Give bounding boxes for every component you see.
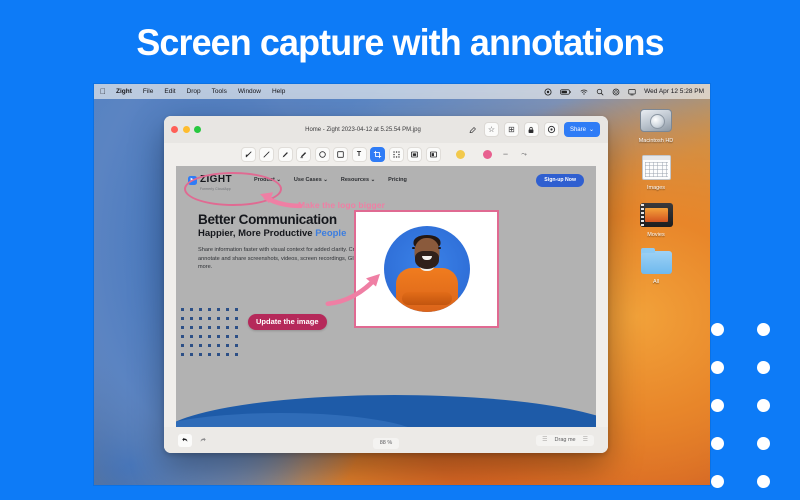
dot — [757, 437, 770, 450]
desktop-icon-movies[interactable]: Movies — [624, 200, 688, 238]
menu-bar:  Zight File Edit Drop Tools Window Help… — [94, 84, 710, 99]
menu-item-window[interactable]: Window — [238, 88, 261, 95]
folder-icon — [637, 247, 675, 277]
hero-copy: Better Communication Happier, More Produ… — [198, 212, 378, 272]
desktop-icon-label: All — [624, 279, 688, 285]
editor-canvas[interactable]: ▶ ZIGHT Formerly CloudApp Product ⌄ Use … — [176, 166, 596, 427]
decorative-square-dots — [181, 308, 244, 362]
menubar-clock[interactable]: Wed Apr 12 5:28 PM — [644, 88, 704, 95]
dot — [711, 361, 724, 374]
window-titlebar: Home - Zight 2023-04-12 at 5.25.54 PM.jp… — [164, 116, 608, 143]
search-icon[interactable] — [596, 88, 604, 96]
more-options-icon[interactable]: ⤳ — [517, 147, 532, 162]
control-center-icon[interactable] — [544, 88, 552, 96]
arrow-tool[interactable] — [241, 147, 256, 162]
square-tool[interactable] — [333, 147, 348, 162]
battery-icon[interactable] — [560, 88, 572, 96]
menu-item-tools[interactable]: Tools — [212, 88, 227, 95]
desktop-icon-all[interactable]: All — [624, 247, 688, 285]
logo-ellipse-annotation — [184, 172, 282, 206]
smiling-man-orange-sweater-photo — [384, 226, 470, 312]
hero-subheading-plain: Happier, More Productive — [198, 228, 315, 239]
menu-item-edit[interactable]: Edit — [164, 88, 175, 95]
dot — [757, 475, 770, 488]
apple-logo-icon[interactable]:  — [100, 88, 106, 96]
dot — [711, 323, 724, 336]
zoom-level-label[interactable]: 88 % — [373, 438, 400, 449]
desktop-icon-label: Images — [624, 185, 688, 191]
annotation-pill-image: Update the image — [248, 314, 327, 330]
dot — [711, 437, 724, 450]
share-label: Share — [570, 127, 586, 133]
hero-heading: Better Communication — [198, 212, 378, 227]
color-picker[interactable] — [480, 147, 495, 162]
desktop-icon-images[interactable]: Images — [624, 153, 688, 191]
display-icon[interactable] — [628, 88, 636, 96]
lock-icon[interactable] — [524, 122, 539, 137]
nav-link-pricing[interactable]: Pricing — [388, 177, 407, 183]
wifi-icon[interactable] — [580, 88, 588, 96]
dot — [757, 361, 770, 374]
nav-link-resources[interactable]: Resources ⌄ — [341, 177, 375, 183]
hero-image-frame — [354, 210, 499, 328]
plus-box-icon[interactable]: ⊞ — [504, 122, 519, 137]
share-button[interactable]: Share ⌄ — [564, 122, 600, 137]
dot — [711, 399, 724, 412]
film-icon — [637, 200, 675, 230]
file-name-label[interactable]: Home - Zight 2023-04-12 at 5.25.54 PM.jp… — [305, 127, 467, 133]
titlebar-actions: ☆ ⊞ Share ⌄ — [467, 116, 600, 143]
circle-tool[interactable] — [315, 147, 330, 162]
desktop-icons: Macintosh HD Images Movies All — [624, 106, 688, 285]
emoji-tool[interactable] — [453, 147, 468, 162]
siri-icon[interactable] — [612, 88, 620, 96]
gear-icon[interactable] — [544, 122, 559, 137]
zight-editor-window: Home - Zight 2023-04-12 at 5.25.54 PM.jp… — [164, 116, 608, 453]
maximize-button[interactable] — [194, 126, 201, 133]
highlighter-tool[interactable] — [296, 147, 311, 162]
color-swatch — [483, 150, 492, 159]
menu-item-file[interactable]: File — [143, 88, 153, 95]
chevron-down-icon: ⌄ — [323, 177, 328, 183]
star-icon[interactable]: ☆ — [484, 122, 499, 137]
page-title: Screen capture with annotations — [12, 22, 788, 64]
dot — [757, 399, 770, 412]
close-button[interactable] — [171, 126, 178, 133]
menu-item-zight[interactable]: Zight — [116, 88, 132, 95]
hero-paragraph: Share information faster with visual con… — [198, 246, 378, 272]
nav-link-use-cases[interactable]: Use Cases ⌄ — [294, 177, 328, 183]
sticker-tool[interactable] — [426, 147, 441, 162]
pen-tool[interactable] — [278, 147, 293, 162]
menu-item-help[interactable]: Help — [272, 88, 285, 95]
desktop-icon-label: Macintosh HD — [624, 138, 688, 144]
minimize-button[interactable] — [183, 126, 190, 133]
menu-item-drop[interactable]: Drop — [187, 88, 201, 95]
desktop-icon-macintosh-hd[interactable]: Macintosh HD — [624, 106, 688, 144]
calendar-icon — [637, 153, 675, 183]
window-traffic-lights — [171, 126, 201, 133]
signup-now-button[interactable]: Sign-up Now — [536, 174, 584, 187]
text-tool[interactable]: T — [352, 147, 367, 162]
chevron-down-icon: ⌄ — [589, 126, 594, 133]
blur-tool[interactable] — [389, 147, 404, 162]
hero-subheading-accent: People — [315, 228, 346, 239]
annotation-text-logo: Make the logo bigger — [298, 200, 385, 210]
stroke-width-picker[interactable]: − — [498, 147, 513, 162]
window-bottombar: 88 % ☰ Drag me ☰ — [164, 427, 608, 453]
crop-tool[interactable] — [370, 147, 385, 162]
hero-subheading: Happier, More Productive People — [198, 228, 378, 239]
hard-drive-icon — [637, 106, 675, 136]
dot — [711, 475, 724, 488]
image-tool[interactable] — [407, 147, 422, 162]
emoji-swatch — [456, 150, 465, 159]
desktop-icon-label: Movies — [624, 232, 688, 238]
dot — [757, 323, 770, 336]
annotation-toolbar: T − ⤳ — [164, 143, 608, 166]
zoom-control: 88 % — [164, 431, 608, 449]
line-tool[interactable] — [259, 147, 274, 162]
pencil-icon[interactable] — [467, 122, 479, 137]
macos-desktop:  Zight File Edit Drop Tools Window Help… — [94, 84, 710, 485]
chevron-down-icon: ⌄ — [371, 177, 376, 183]
